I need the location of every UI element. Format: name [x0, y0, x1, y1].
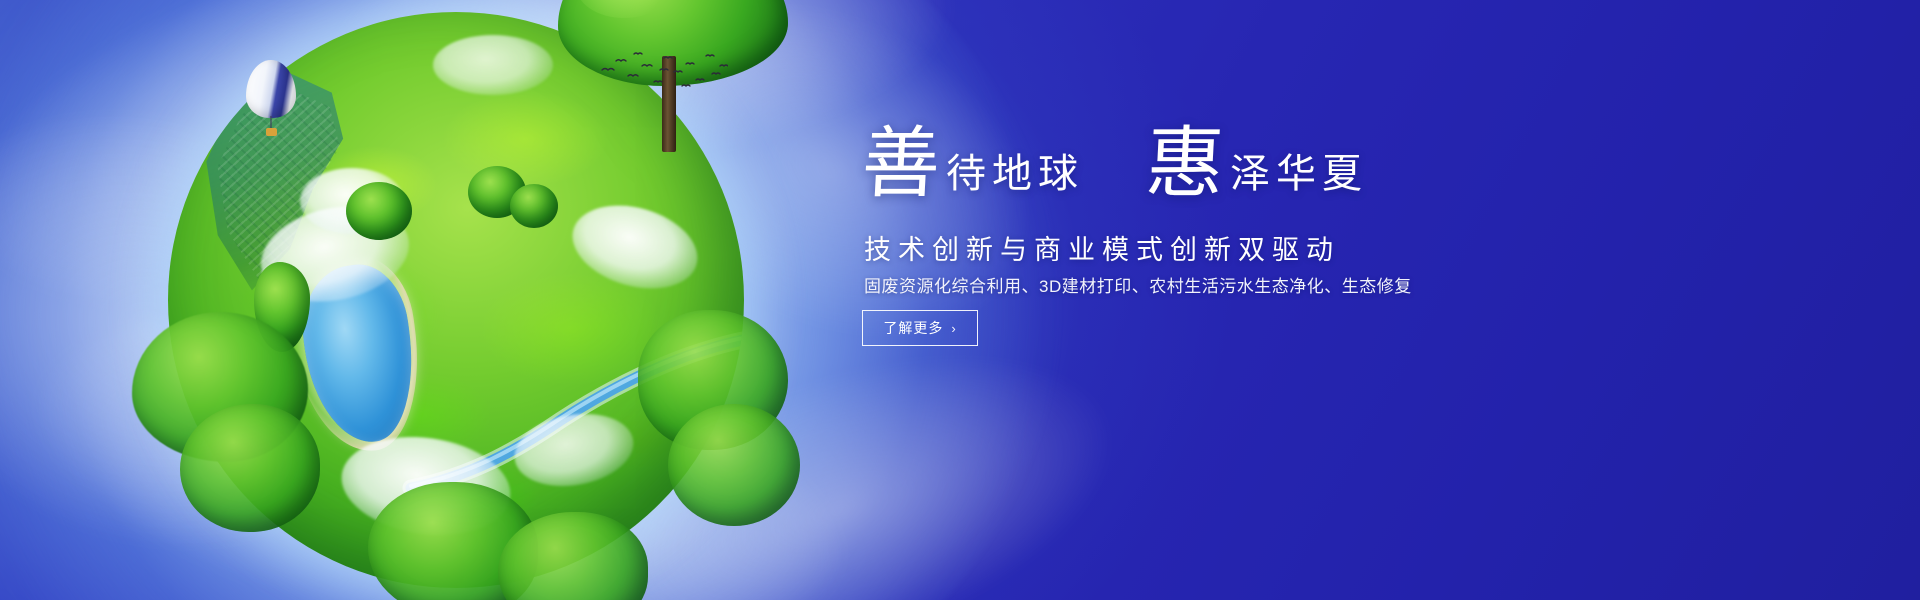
headline-group-one: 善 待地球 [862, 128, 1084, 200]
rim-tree [668, 404, 800, 526]
tiny-planet-earth-illustration [168, 12, 744, 588]
headline-lead-char-shan: 善 [860, 128, 942, 200]
hero-subtitle: 技术创新与商业模式创新双驱动 [864, 228, 1340, 267]
learn-more-button[interactable]: 了解更多 › [862, 310, 978, 346]
headline-group-two: 惠 泽华夏 [1146, 128, 1368, 200]
hero-description: 固废资源化综合利用、3D建材打印、农村生活污水生态净化、生态修复 [864, 272, 1412, 297]
planet-cloud [433, 35, 553, 95]
planet-shrub [510, 184, 558, 228]
learn-more-label: 了解更多 [883, 318, 943, 338]
hero-headline: 善 待地球 惠 泽华夏 [862, 128, 1368, 200]
hero-banner: 善 待地球 惠 泽华夏 技术创新与商业模式创新双驱动 固废资源化综合利用、3D建… [0, 0, 1920, 600]
rim-tree [180, 404, 320, 532]
hero-content: 善 待地球 惠 泽华夏 技术创新与商业模式创新双驱动 固废资源化综合利用、3D建… [862, 0, 1862, 600]
headline-rest-daidiqiu: 待地球 [946, 154, 1084, 200]
planet-shrub [346, 182, 412, 240]
rim-tree [498, 512, 648, 600]
chevron-right-icon: › [951, 321, 956, 336]
headline-lead-char-hui: 惠 [1144, 128, 1226, 200]
hot-air-balloon-icon [246, 60, 296, 138]
headline-rest-zehuaxia: 泽华夏 [1230, 154, 1368, 200]
bird-flock-icon [598, 52, 728, 98]
